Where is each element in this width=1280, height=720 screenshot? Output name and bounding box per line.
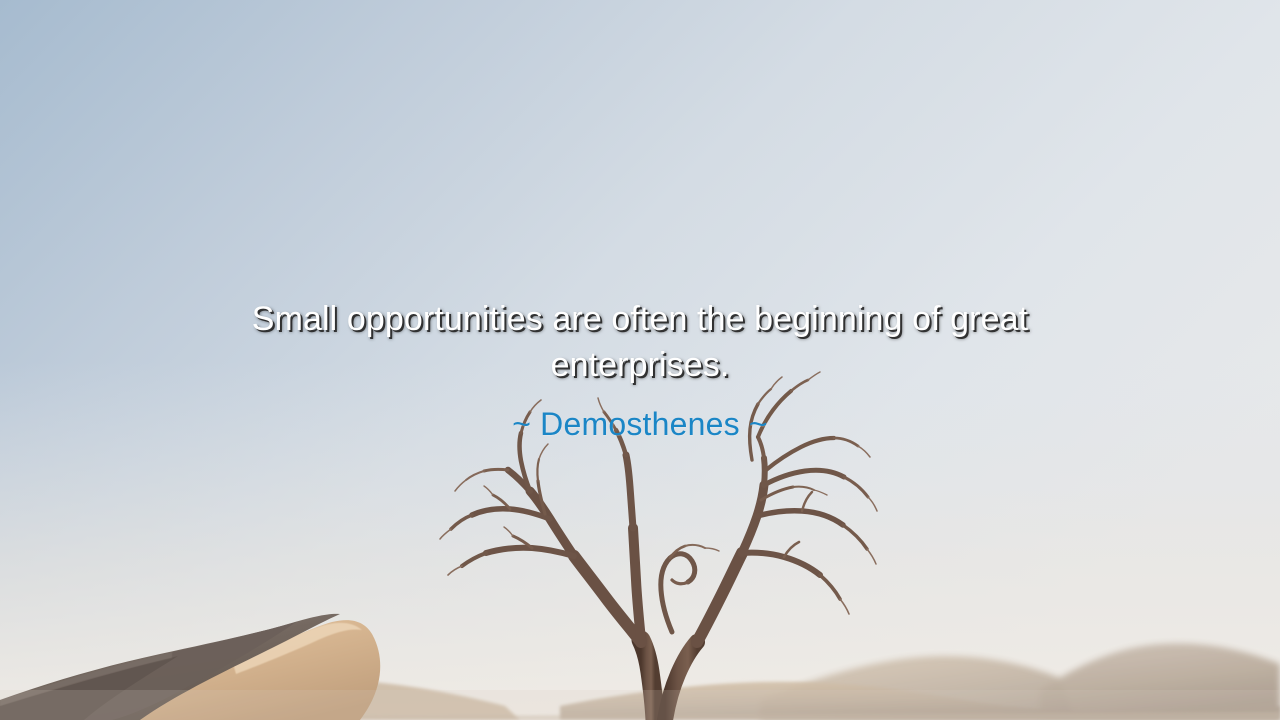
quote-image-canvas: Small opportunities are often the beginn… (0, 0, 1280, 720)
quote-attribution: ~ Demosthenes ~ (170, 388, 1110, 444)
quote-text: Small opportunities are often the beginn… (170, 296, 1110, 388)
quote-block: Small opportunities are often the beginn… (170, 296, 1110, 444)
